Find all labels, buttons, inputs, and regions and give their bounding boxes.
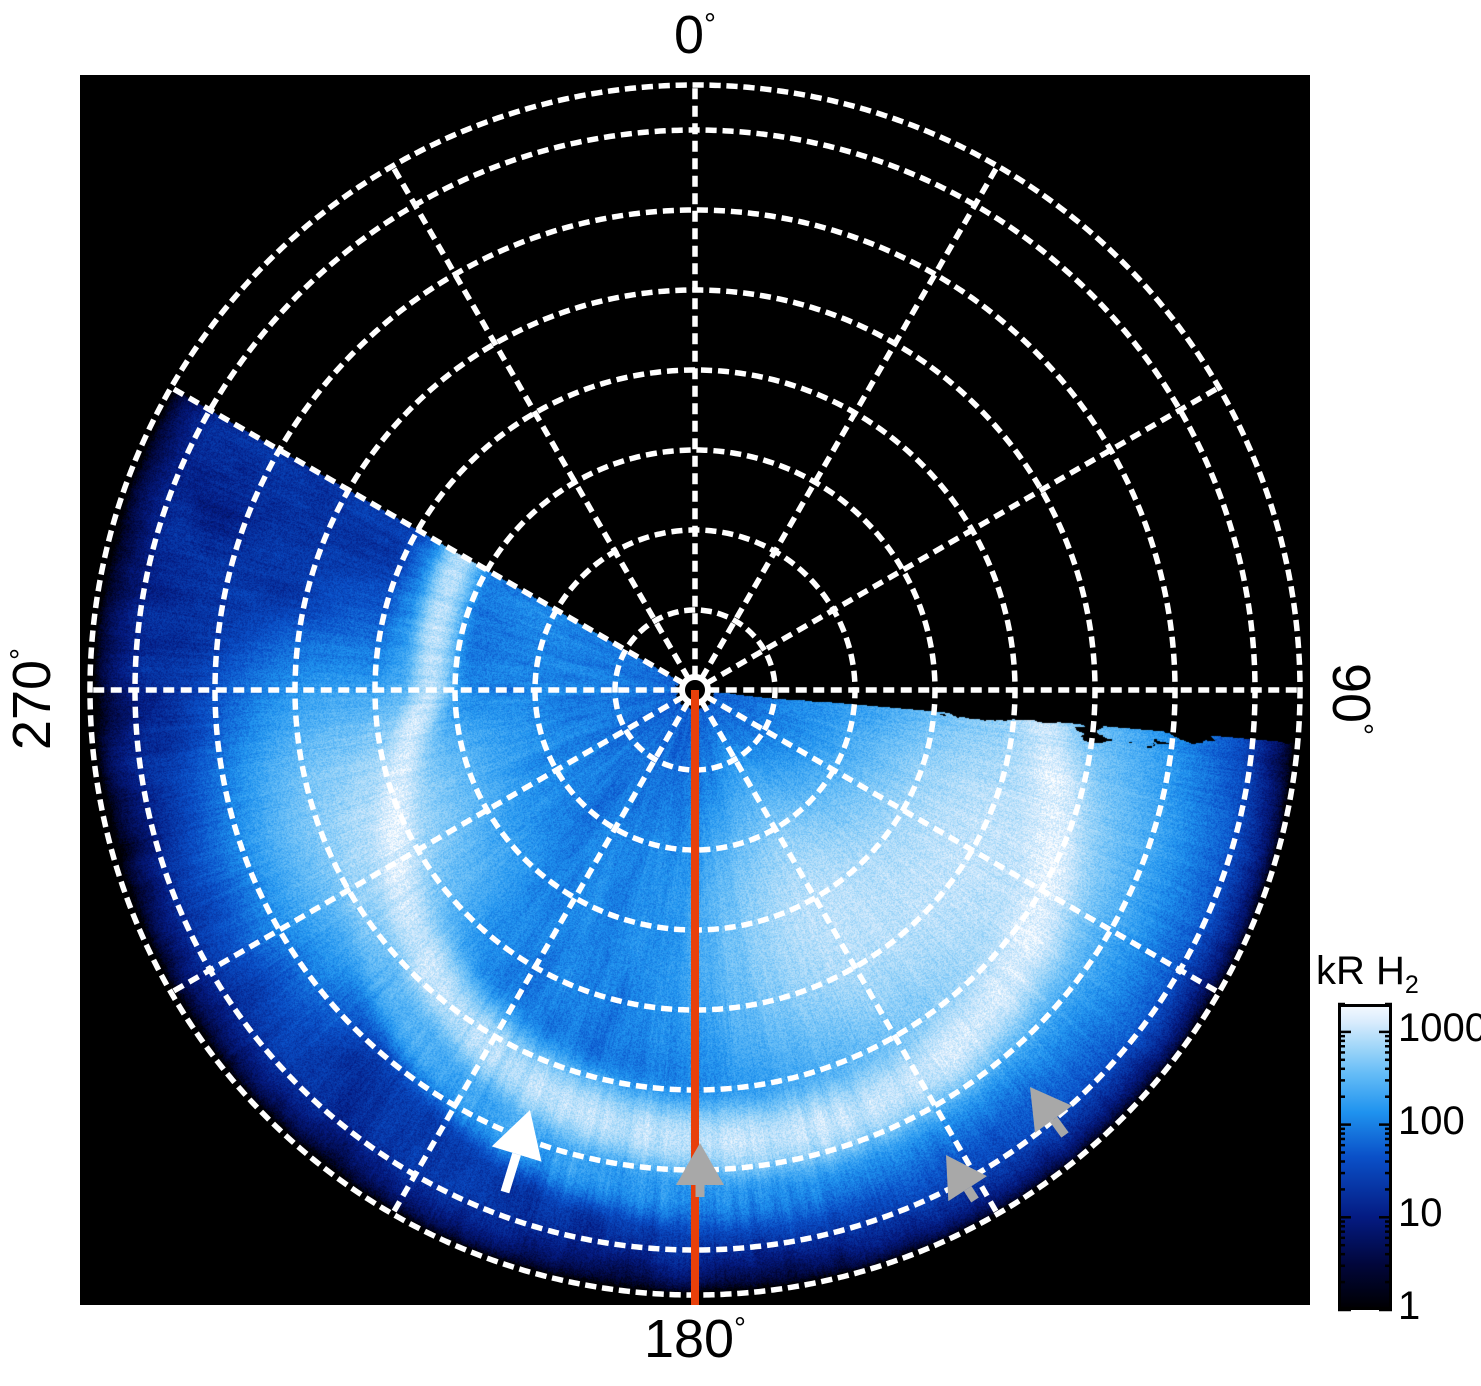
colorbar-tick-label-1000: 1000 (1398, 1006, 1481, 1051)
polar-plot-area (80, 75, 1310, 1305)
figure-root: 0° 180° 270° 90° kR H2 1000 100 10 1 (0, 0, 1481, 1386)
azimuth-label-180: 180° (0, 1312, 1390, 1366)
azimuth-label-0: 0° (0, 8, 1390, 62)
colorbar-tick-label-10: 10 (1398, 1191, 1443, 1236)
colorbar (1338, 1004, 1392, 1310)
colorbar-tickmarks (1335, 1001, 1395, 1313)
colorbar-title: kR H2 (1316, 949, 1419, 994)
azimuth-label-270: 270° (5, 604, 59, 794)
colorbar-tick-label-1: 1 (1398, 1284, 1420, 1329)
colorbar-tick-label-100: 100 (1398, 1099, 1465, 1144)
polar-projection-canvas (80, 75, 1310, 1305)
azimuth-label-90: 90° (1324, 604, 1378, 794)
